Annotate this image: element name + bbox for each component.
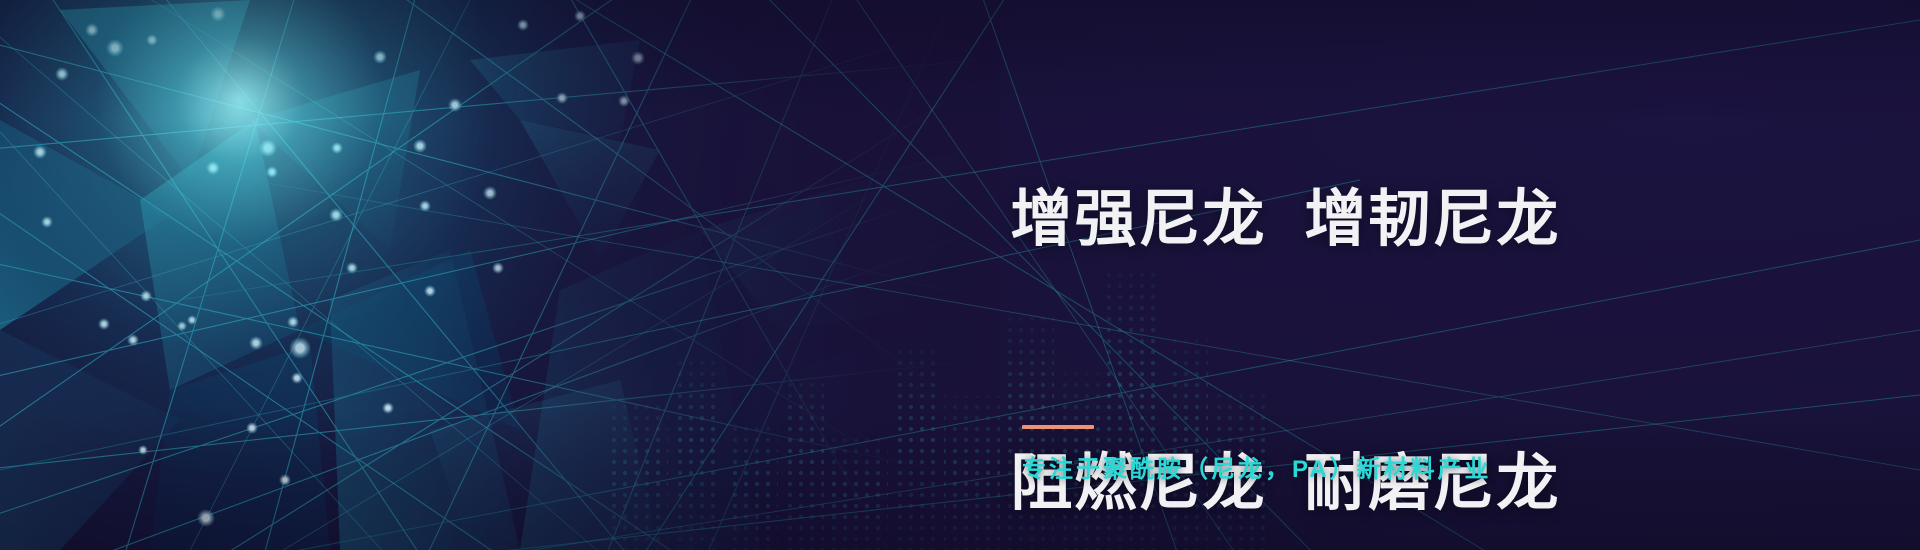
tagline-text: 专注于聚酰胺（尼龙，PA）新材料产业: [1022, 449, 1492, 484]
headline-phrase-reinforced-nylon: 增强尼龙: [1010, 185, 1266, 254]
hero-banner: 增强尼龙增韧尼龙 阻燃尼龙耐磨尼龙 专注于聚酰胺（尼龙，PA）新材料产业: [0, 0, 1920, 550]
headline-phrase-toughened-nylon: 增韧尼龙: [1304, 185, 1560, 254]
tagline-block: 专注于聚酰胺（尼龙，PA）新材料产业: [1022, 425, 1492, 484]
headline-line-1: 增强尼龙增韧尼龙: [895, 88, 1845, 352]
accent-rule-divider: [1022, 425, 1094, 429]
